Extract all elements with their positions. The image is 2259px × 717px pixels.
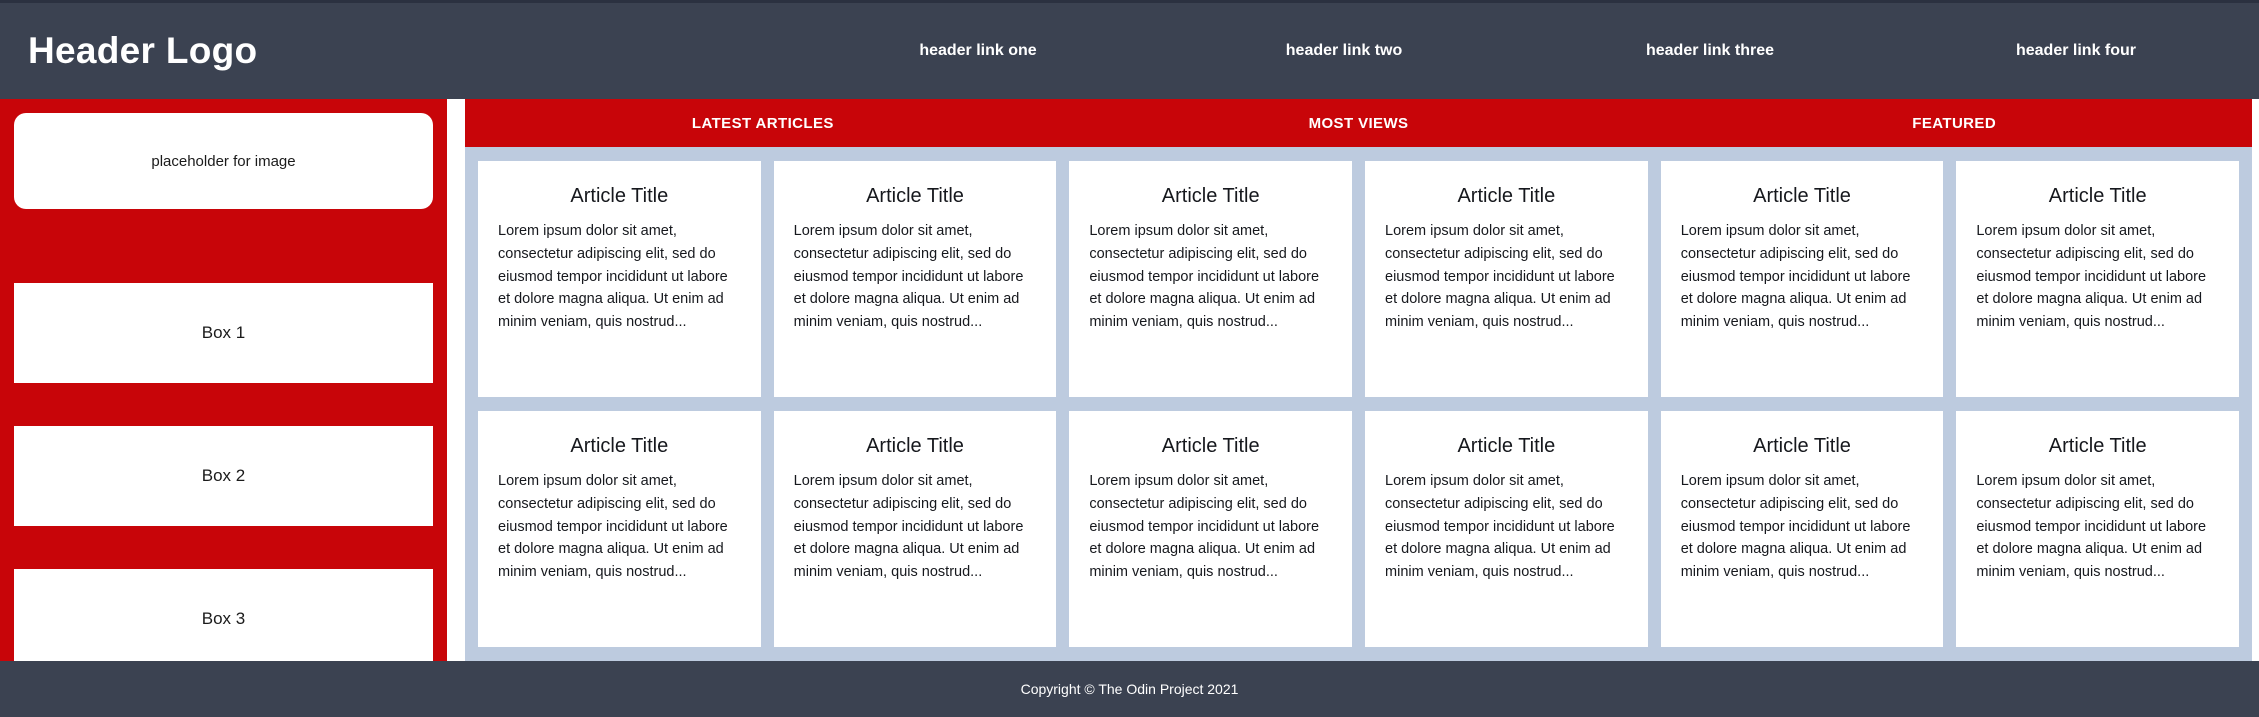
article-body: Lorem ipsum dolor sit amet, consectetur … <box>1976 220 2219 334</box>
sidebar-box-3-label: Box 3 <box>202 609 245 629</box>
article-body: Lorem ipsum dolor sit amet, consectetur … <box>1681 470 1924 584</box>
article-body: Lorem ipsum dolor sit amet, consectetur … <box>794 220 1037 334</box>
article-title: Article Title <box>794 435 1037 458</box>
article-title: Article Title <box>1681 435 1924 458</box>
article-row-2: Article Title Lorem ipsum dolor sit amet… <box>478 411 2239 647</box>
article-title: Article Title <box>498 435 741 458</box>
tab-featured[interactable]: FEATURED <box>1656 115 2252 132</box>
sidebar-box-3[interactable]: Box 3 <box>14 569 433 661</box>
article-card[interactable]: Article Title Lorem ipsum dolor sit amet… <box>1661 161 1944 397</box>
header-logo: Header Logo <box>28 30 257 72</box>
tab-latest-articles[interactable]: LATEST ARTICLES <box>465 115 1061 132</box>
sidebar-box-2[interactable]: Box 2 <box>14 426 433 526</box>
article-card[interactable]: Article Title Lorem ipsum dolor sit amet… <box>1365 161 1648 397</box>
article-body: Lorem ipsum dolor sit amet, consectetur … <box>1385 470 1628 584</box>
sidebar-image-placeholder[interactable]: placeholder for image <box>14 113 433 209</box>
sidebar-box-2-label: Box 2 <box>202 466 245 486</box>
article-body: Lorem ipsum dolor sit amet, consectetur … <box>794 470 1037 584</box>
tab-most-views[interactable]: MOST VIEWS <box>1061 115 1657 132</box>
article-title: Article Title <box>1385 185 1628 208</box>
article-title: Article Title <box>498 185 741 208</box>
article-card[interactable]: Article Title Lorem ipsum dolor sit amet… <box>1661 411 1944 647</box>
article-body: Lorem ipsum dolor sit amet, consectetur … <box>1089 470 1332 584</box>
page-root: Header Logo header link one header link … <box>0 0 2259 717</box>
article-grid: Article Title Lorem ipsum dolor sit amet… <box>465 147 2252 661</box>
article-title: Article Title <box>1976 435 2219 458</box>
article-body: Lorem ipsum dolor sit amet, consectetur … <box>1681 220 1924 334</box>
body-area: placeholder for image Box 1 Box 2 Box 3 … <box>0 99 2259 661</box>
article-body: Lorem ipsum dolor sit amet, consectetur … <box>498 470 741 584</box>
site-footer: Copyright © The Odin Project 2021 <box>0 661 2259 717</box>
article-card[interactable]: Article Title Lorem ipsum dolor sit amet… <box>1069 161 1352 397</box>
article-card[interactable]: Article Title Lorem ipsum dolor sit amet… <box>1365 411 1648 647</box>
article-card[interactable]: Article Title Lorem ipsum dolor sit amet… <box>1956 411 2239 647</box>
header-link-four[interactable]: header link four <box>1893 42 2259 60</box>
article-title: Article Title <box>1976 185 2219 208</box>
article-body: Lorem ipsum dolor sit amet, consectetur … <box>1385 220 1628 334</box>
article-card[interactable]: Article Title Lorem ipsum dolor sit amet… <box>478 161 761 397</box>
article-card[interactable]: Article Title Lorem ipsum dolor sit amet… <box>774 161 1057 397</box>
article-title: Article Title <box>1089 435 1332 458</box>
article-card[interactable]: Article Title Lorem ipsum dolor sit amet… <box>478 411 761 647</box>
sidebar-box-1-label: Box 1 <box>202 323 245 343</box>
article-card[interactable]: Article Title Lorem ipsum dolor sit amet… <box>1956 161 2239 397</box>
article-row-1: Article Title Lorem ipsum dolor sit amet… <box>478 161 2239 397</box>
header-link-one[interactable]: header link one <box>795 42 1161 60</box>
article-title: Article Title <box>794 185 1037 208</box>
main-region: LATEST ARTICLES MOST VIEWS FEATURED Arti… <box>465 99 2259 661</box>
header-link-three[interactable]: header link three <box>1527 42 1893 60</box>
article-title: Article Title <box>1385 435 1628 458</box>
header-link-two[interactable]: header link two <box>1161 42 1527 60</box>
sidebar: placeholder for image Box 1 Box 2 Box 3 <box>0 99 447 661</box>
article-title: Article Title <box>1681 185 1924 208</box>
main-tabbar: LATEST ARTICLES MOST VIEWS FEATURED <box>465 99 2252 147</box>
article-body: Lorem ipsum dolor sit amet, consectetur … <box>1089 220 1332 334</box>
site-header: Header Logo header link one header link … <box>0 0 2259 99</box>
article-card[interactable]: Article Title Lorem ipsum dolor sit amet… <box>774 411 1057 647</box>
article-body: Lorem ipsum dolor sit amet, consectetur … <box>498 220 741 334</box>
footer-copyright: Copyright © The Odin Project 2021 <box>1021 681 1239 697</box>
header-nav: header link one header link two header l… <box>257 42 2259 60</box>
sidebar-box-1[interactable]: Box 1 <box>14 283 433 383</box>
article-title: Article Title <box>1089 185 1332 208</box>
sidebar-main-divider <box>447 99 465 661</box>
article-card[interactable]: Article Title Lorem ipsum dolor sit amet… <box>1069 411 1352 647</box>
sidebar-image-placeholder-label: placeholder for image <box>151 153 295 170</box>
article-body: Lorem ipsum dolor sit amet, consectetur … <box>1976 470 2219 584</box>
